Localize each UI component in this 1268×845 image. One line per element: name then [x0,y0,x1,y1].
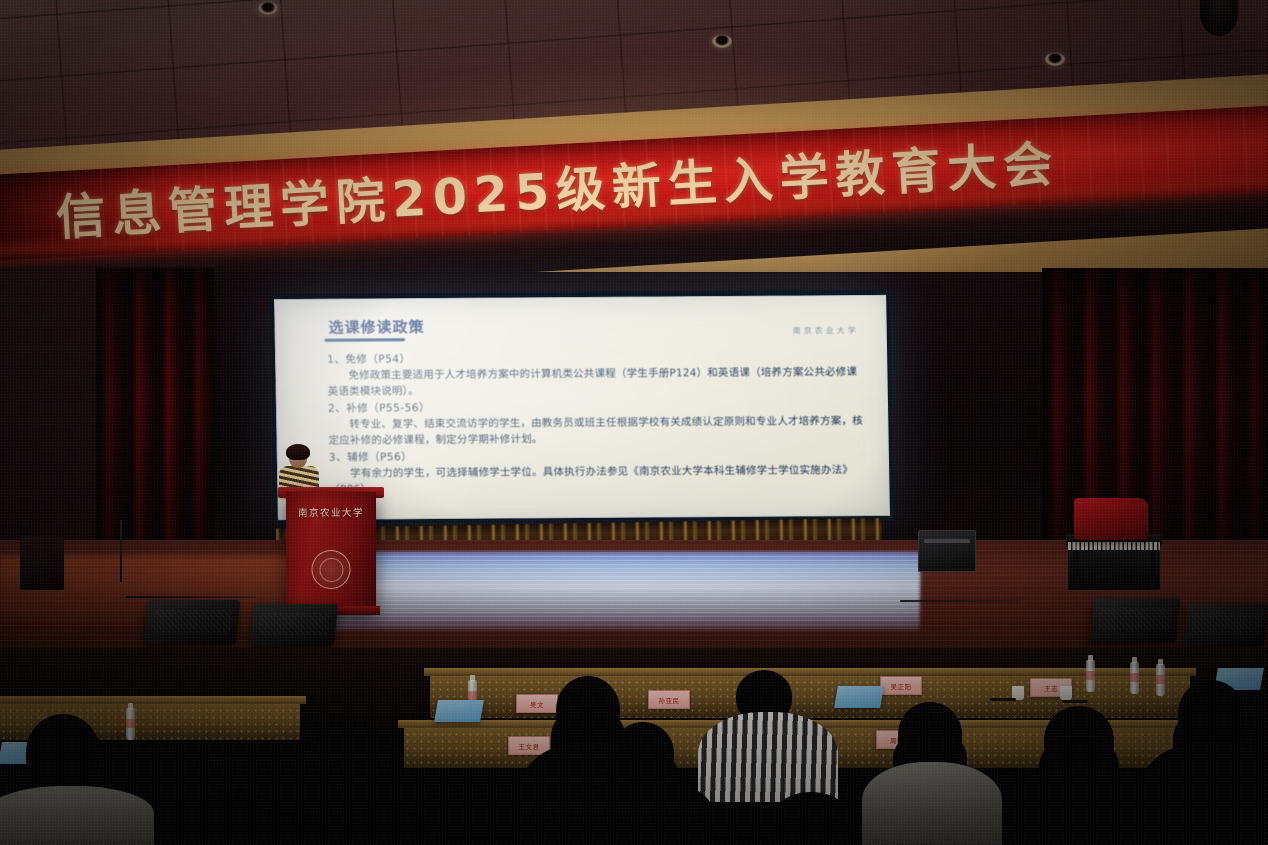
stage-monitor-speaker [1090,598,1181,642]
name-placard-label: 孙亚民 [649,691,689,708]
audience-head [1044,706,1114,774]
piano-leg [1150,550,1155,588]
speaker-hair [286,444,310,460]
pen [990,698,1016,701]
screen-reflection-scanlines [330,552,920,630]
stage-monitor-speaker [250,604,338,646]
piano-keys [1068,542,1160,550]
slide-line: 免修政策主要适用于人才培养方案中的计算机类公共课程（学生手册P124）和英语课（… [327,364,864,400]
name-placard-label: 吴正阳 [881,677,921,694]
audience-shoulders [1004,768,1156,845]
water-bottle [1156,664,1165,696]
slide-line: 学有余力的学生，可选择辅修学士学位。具体执行办法参见《南京农业大学本科生辅修学士… [329,462,866,498]
water-bottle [1086,660,1095,692]
piano-leg [1074,550,1079,588]
audience-shoulders [862,762,1002,845]
podium: 南京农业大学 [286,492,376,614]
name-placard: 孙亚民 [648,690,690,709]
audience-shoulders [576,780,712,845]
laptop-screen [434,700,484,722]
stage-cable [900,600,1020,602]
name-placard-label: 王文君 [509,737,549,754]
name-placard-label: 吴文 [517,695,557,712]
auditorium-photo: 信息管理学院2025级新生入学教育大会 选课修读政策 南京农业大学 1、免修（P… [0,0,1268,845]
slide-line: 转专业、复学、结束交流访学的学生，由教务员或班主任根据学校有关成绩认定原则和专业… [328,413,865,449]
university-logo-watermark: 南京农业大学 [793,325,859,336]
audience-head [612,722,674,784]
slide-body: 1、免修（P54） 免修政策主要适用于人才培养方案中的计算机类公共课程（学生手册… [327,347,866,498]
audience-head [352,772,428,845]
audience-head [1178,680,1244,746]
ceiling-downlight [712,35,732,48]
audience-table-top [424,668,1196,676]
water-bottle [1130,662,1139,694]
piano-red-cover [1074,498,1148,540]
university-emblem [312,550,351,589]
audience-head [26,714,100,790]
slide-title: 选课修读政策 [328,316,424,338]
audience-head [556,676,620,744]
piano-body [1068,548,1160,590]
ceiling-downlight [1045,53,1065,66]
ceiling-downlight [258,2,278,15]
audience-table-top [0,696,306,704]
stage-cable [126,596,256,598]
stage-monitor-speaker [1184,604,1268,646]
pen [1062,700,1088,703]
slide-title-underline [325,338,405,341]
podium-university-name: 南京农业大学 [286,505,376,519]
mic-stand [120,520,122,582]
amplifier-case [918,530,976,572]
laptop-screen [834,686,884,708]
audience-head [196,788,276,845]
grand-piano [1058,498,1176,590]
paper-cup [1060,686,1072,700]
name-placard: 吴文 [516,694,558,713]
water-bottle [126,708,135,740]
audience-shoulders [0,786,154,845]
audience-head [772,792,850,845]
audience-shoulders [1140,742,1268,845]
flight-case [20,536,64,590]
audience-head [898,702,962,766]
name-placard: 吴正阳 [880,676,922,695]
audience-shoulders [698,712,838,802]
stage-monitor-speaker [144,600,241,644]
